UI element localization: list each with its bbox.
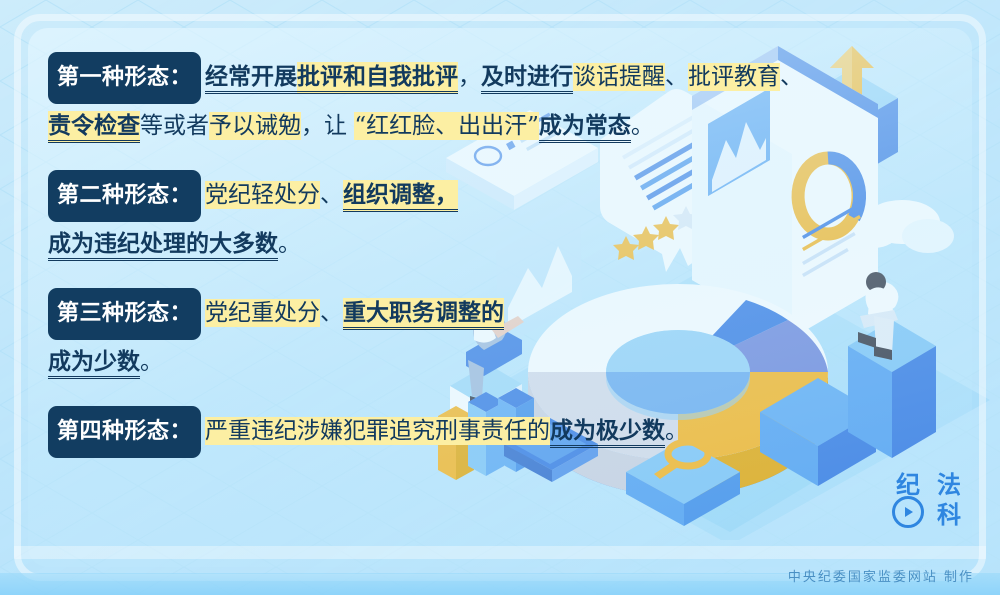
form-label-badge: 第二种形态：	[48, 170, 201, 222]
text-segment: 成为违纪处理的大多数	[48, 230, 278, 261]
form-paragraph: 第一种形态：经常开展批评和自我批评，及时进行谈话提醒、批评教育、责令检查等或者予…	[48, 52, 878, 148]
form-paragraph: 第四种形态：严重违纪涉嫌犯罪追究刑事责任的成为极少数。	[48, 406, 878, 458]
text-segment: 。	[665, 418, 688, 444]
text-segment: 党纪轻处分	[205, 181, 320, 209]
form-label-badge: 第三种形态：	[48, 288, 201, 340]
poster-canvas: 第一种形态：经常开展批评和自我批评，及时进行谈话提醒、批评教育、责令检查等或者予…	[0, 0, 1000, 595]
text-line: 第四种形态：严重违纪涉嫌犯罪追究刑事责任的成为极少数。	[48, 406, 878, 458]
text-segment: 严重违纪涉嫌犯罪追究刑事责任的	[205, 417, 550, 445]
text-segment: 、	[320, 182, 343, 208]
text-line: 责令检查等或者予以诫勉，让 “红红脸、出出汗”成为常态。	[48, 104, 878, 148]
text-segment: 成为常态	[539, 112, 631, 143]
form-label-badge: 第一种形态：	[48, 52, 201, 104]
text-segment: 。	[278, 231, 301, 257]
text-segment: 。	[140, 349, 163, 375]
logo-char-1: 纪	[888, 467, 928, 497]
text-segment: 谈话提醒	[573, 63, 665, 91]
poster-bottom-band	[14, 546, 986, 559]
text-segment: 经常开展	[205, 63, 297, 94]
form-paragraph: 第三种形态：党纪重处分、重大职务调整的成为少数。	[48, 288, 878, 384]
text-segment: 成为少数	[48, 348, 140, 379]
text-segment: 责令检查	[48, 111, 140, 143]
text-segment: 批评教育	[688, 63, 780, 91]
forms-text-block: 第一种形态：经常开展批评和自我批评，及时进行谈话提醒、批评教育、责令检查等或者予…	[48, 52, 878, 458]
text-segment: 及时进行	[481, 63, 573, 94]
text-segment: 、	[320, 300, 343, 326]
text-line: 成为违纪处理的大多数。	[48, 222, 878, 266]
text-segment: 批评和自我批评	[297, 62, 458, 94]
text-segment: ，	[458, 64, 481, 90]
text-segment: 党纪重处分	[205, 299, 320, 327]
text-line: 成为少数。	[48, 340, 878, 384]
form-paragraph: 第二种形态：党纪轻处分、组织调整，成为违纪处理的大多数。	[48, 170, 878, 266]
jifa-baike-logo: 纪 法 科	[888, 467, 974, 529]
text-segment: 予以诫勉	[209, 112, 301, 140]
text-segment: “红红脸、出出汗”	[354, 112, 539, 140]
text-segment: 。	[631, 113, 654, 139]
logo-char-4: 科	[928, 497, 970, 527]
text-line: 第二种形态：党纪轻处分、组织调整，	[48, 170, 878, 222]
text-segment: 成为极少数	[550, 417, 665, 448]
play-circle-icon	[888, 497, 928, 527]
footer-credit: 中央纪委国家监委网站 制作	[788, 566, 974, 585]
text-segment: ，让	[301, 113, 354, 139]
text-segment: 组织调整，	[343, 180, 458, 212]
text-segment: 、	[780, 64, 803, 90]
text-line: 第一种形态：经常开展批评和自我批评，及时进行谈话提醒、批评教育、	[48, 52, 878, 104]
text-segment: 、	[665, 64, 688, 90]
text-segment: 重大职务调整的	[343, 298, 504, 330]
form-label-badge: 第四种形态：	[48, 406, 201, 458]
text-line: 第三种形态：党纪重处分、重大职务调整的	[48, 288, 878, 340]
logo-char-2: 法	[928, 467, 970, 497]
text-segment: 等或者	[140, 113, 209, 139]
